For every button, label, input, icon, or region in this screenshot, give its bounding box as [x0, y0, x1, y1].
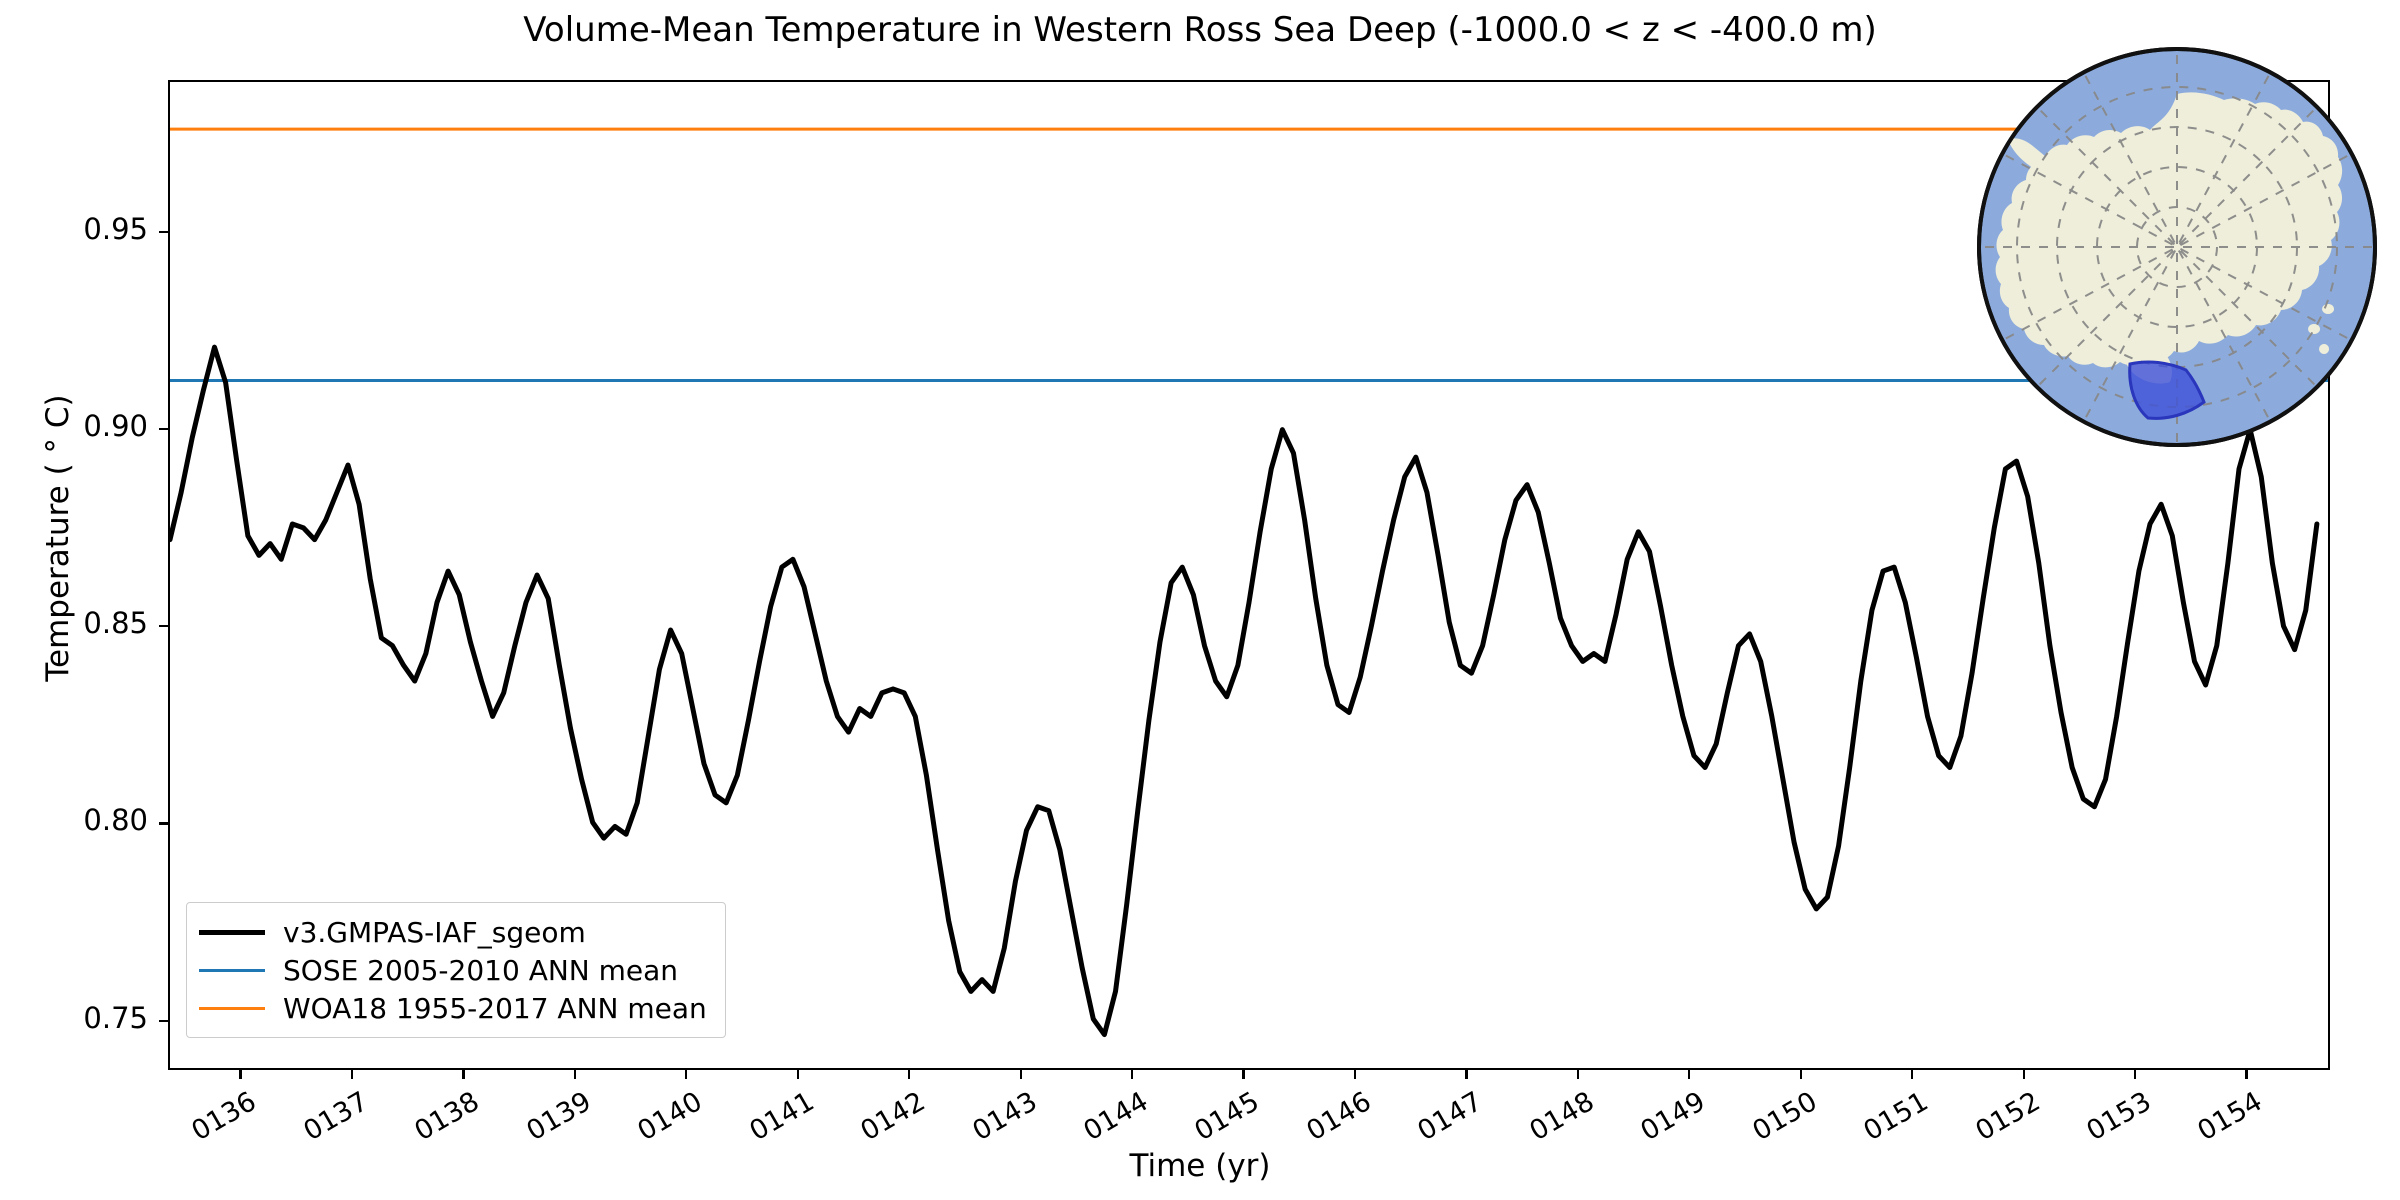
legend: v3.GMPAS-IAF_sgeomSOSE 2005-2010 ANN mea…: [186, 902, 726, 1038]
legend-label: SOSE 2005-2010 ANN mean: [283, 954, 678, 987]
legend-item[interactable]: v3.GMPAS-IAF_sgeom: [199, 913, 707, 951]
x-tick-mark: [685, 1070, 687, 1079]
y-tick-label: 0.75: [43, 1001, 148, 1035]
x-tick-label: 0137: [294, 1086, 374, 1150]
x-tick-label: 0151: [1854, 1086, 1934, 1150]
legend-item[interactable]: WOA18 1955-2017 ANN mean: [199, 989, 707, 1027]
y-tick-mark: [159, 428, 168, 430]
x-tick-label: 0136: [182, 1086, 262, 1150]
inset-contents: [1972, 42, 2382, 452]
x-tick-label: 0154: [2188, 1086, 2268, 1150]
x-tick-mark: [2245, 1070, 2247, 1079]
x-tick-mark: [1577, 1070, 1579, 1079]
x-tick-mark: [1688, 1070, 1690, 1079]
x-tick-mark: [574, 1070, 576, 1079]
x-tick-mark: [1131, 1070, 1133, 1079]
x-tick-label: 0142: [851, 1086, 931, 1150]
x-tick-mark: [1911, 1070, 1913, 1079]
legend-color-swatch: [199, 930, 265, 935]
x-tick-label: 0149: [1631, 1086, 1711, 1150]
x-tick-mark: [1242, 1070, 1244, 1079]
legend-color-swatch: [199, 969, 265, 972]
inset-map-svg: [1972, 42, 2382, 452]
x-tick-label: 0145: [1185, 1086, 1265, 1150]
x-tick-label: 0141: [740, 1086, 820, 1150]
x-tick-label: 0152: [1965, 1086, 2045, 1150]
x-tick-label: 0146: [1297, 1086, 1377, 1150]
x-tick-label: 0144: [1074, 1086, 1154, 1150]
y-tick-mark: [159, 625, 168, 627]
x-tick-mark: [1354, 1070, 1356, 1079]
figure-canvas: Volume-Mean Temperature in Western Ross …: [0, 0, 2400, 1200]
y-tick-mark: [159, 822, 168, 824]
x-tick-mark: [797, 1070, 799, 1079]
x-tick-label: 0148: [1520, 1086, 1600, 1150]
legend-color-swatch: [199, 1007, 265, 1010]
x-tick-mark: [239, 1070, 241, 1079]
x-tick-mark: [2134, 1070, 2136, 1079]
x-tick-mark: [1020, 1070, 1022, 1079]
x-axis-label: Time (yr): [0, 1148, 2400, 1184]
legend-item[interactable]: SOSE 2005-2010 ANN mean: [199, 951, 707, 989]
y-tick-mark: [159, 1020, 168, 1022]
x-tick-label: 0150: [1743, 1086, 1823, 1150]
x-tick-label: 0140: [628, 1086, 708, 1150]
x-tick-mark: [908, 1070, 910, 1079]
x-tick-mark: [1465, 1070, 1467, 1079]
x-tick-label: 0139: [517, 1086, 597, 1150]
antarctic-region-inset: [1972, 42, 2382, 452]
x-tick-label: 0143: [962, 1086, 1042, 1150]
y-tick-mark: [159, 231, 168, 233]
x-tick-label: 0138: [405, 1086, 485, 1150]
x-tick-label: 0153: [2077, 1086, 2157, 1150]
x-tick-mark: [351, 1070, 353, 1079]
y-axis-label: Temperature ( ° C): [40, 158, 76, 918]
x-tick-mark: [462, 1070, 464, 1079]
legend-label: v3.GMPAS-IAF_sgeom: [283, 916, 586, 949]
x-tick-mark: [1800, 1070, 1802, 1079]
x-tick-label: 0147: [1408, 1086, 1488, 1150]
legend-label: WOA18 1955-2017 ANN mean: [283, 992, 707, 1025]
x-tick-mark: [2023, 1070, 2025, 1079]
